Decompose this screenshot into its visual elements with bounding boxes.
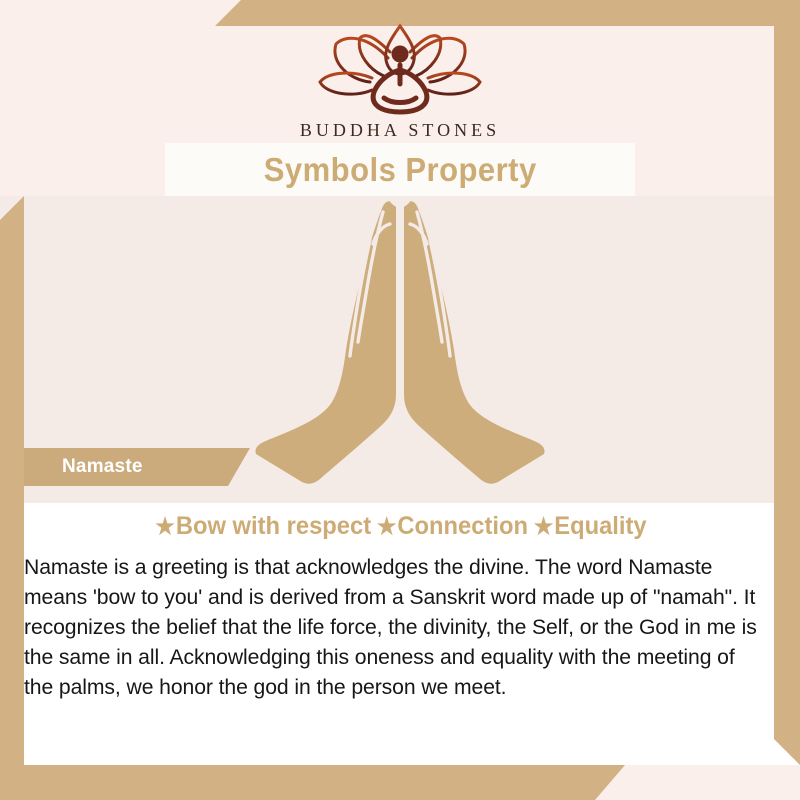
keyword-item-2: ★Connection bbox=[373, 512, 530, 540]
decorative-band-bottom bbox=[0, 765, 625, 800]
title-band: Symbols Property bbox=[165, 143, 635, 196]
page-title: Symbols Property bbox=[263, 151, 536, 189]
star-icon: ★ bbox=[534, 513, 554, 539]
brand-logo: BUDDHA STONES bbox=[0, 18, 800, 141]
keyword-label-2: Connection bbox=[397, 512, 528, 540]
keyword-item-3: ★Equality bbox=[530, 512, 649, 540]
keyword-list: ★Bow with respect★Connection★Equality bbox=[20, 512, 780, 541]
symbols-property-poster: BUDDHA STONES Symbols Property bbox=[0, 0, 800, 800]
keyword-label-1: Bow with respect bbox=[176, 512, 371, 540]
praying-hands-anjali-mudra-icon bbox=[250, 196, 550, 486]
symbol-name-banner: Namaste bbox=[24, 448, 250, 486]
decorative-band-left bbox=[0, 196, 24, 800]
symbol-description: Namaste is a greeting is that acknowledg… bbox=[24, 552, 769, 702]
lotus-meditation-figure-icon bbox=[310, 18, 490, 118]
star-icon: ★ bbox=[155, 513, 175, 539]
star-icon: ★ bbox=[377, 513, 397, 539]
brand-name: BUDDHA STONES bbox=[0, 120, 800, 141]
keyword-label-3: Equality bbox=[554, 512, 646, 540]
keyword-item-1: ★Bow with respect bbox=[151, 512, 373, 540]
symbol-name-label: Namaste bbox=[62, 456, 143, 478]
